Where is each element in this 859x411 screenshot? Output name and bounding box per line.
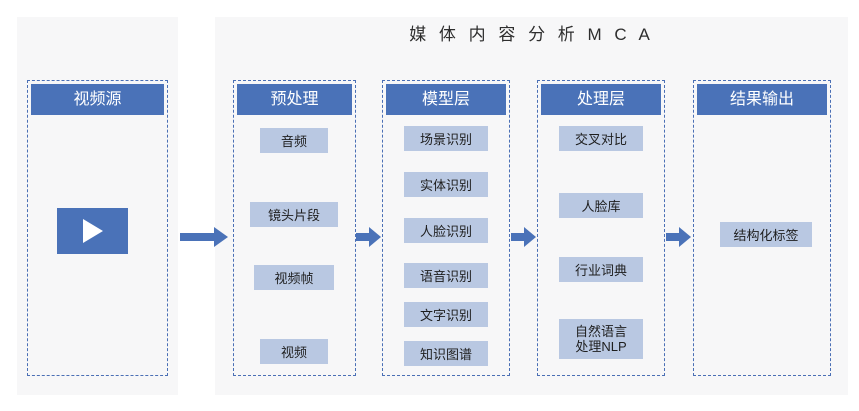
- diagram-canvas: 媒 体 内 容 分 析 M C A 视频源 预处理 音频 镜头片段 视频帧 视频…: [0, 0, 859, 411]
- play-triangle-icon: [83, 219, 103, 243]
- chip-model-scene-recognition[interactable]: 场景识别: [404, 126, 488, 151]
- column-header-model-layer: 模型层: [386, 84, 506, 115]
- chip-process-industry-dictionary[interactable]: 行业词典: [559, 257, 643, 282]
- chip-preprocess-audio[interactable]: 音频: [260, 128, 328, 153]
- chip-model-text-recognition[interactable]: 文字识别: [404, 302, 488, 327]
- column-header-process-layer: 处理层: [541, 84, 661, 115]
- column-preprocess: 预处理: [233, 80, 356, 376]
- chip-preprocess-video[interactable]: 视频: [260, 339, 328, 364]
- chip-process-face-database[interactable]: 人脸库: [559, 193, 643, 218]
- arrow-preprocess-to-model-layer: [356, 226, 382, 248]
- chip-model-face-recognition[interactable]: 人脸识别: [404, 218, 488, 243]
- chip-process-cross-comparison[interactable]: 交叉对比: [559, 126, 643, 151]
- column-header-video-source: 视频源: [31, 84, 164, 115]
- chip-process-nlp-line2: 处理NLP: [575, 339, 626, 354]
- arrow-process-layer-to-result-output: [666, 226, 692, 248]
- chip-model-entity-recognition[interactable]: 实体识别: [404, 172, 488, 197]
- column-header-preprocess: 预处理: [237, 84, 352, 115]
- arrow-video-source-to-preprocess: [180, 226, 230, 248]
- chip-preprocess-shot-segment[interactable]: 镜头片段: [250, 202, 338, 227]
- chip-result-structured-tags[interactable]: 结构化标签: [720, 222, 812, 247]
- chip-process-nlp[interactable]: 自然语言 处理NLP: [559, 319, 643, 359]
- column-header-result-output: 结果输出: [697, 84, 827, 115]
- chip-process-nlp-line1: 自然语言: [575, 324, 627, 339]
- page-title: 媒 体 内 容 分 析 M C A: [215, 20, 848, 50]
- chip-model-knowledge-graph[interactable]: 知识图谱: [404, 341, 488, 366]
- chip-preprocess-video-frame[interactable]: 视频帧: [254, 265, 334, 290]
- arrow-model-layer-to-process-layer: [511, 226, 537, 248]
- play-button-icon[interactable]: [57, 208, 128, 254]
- chip-model-speech-recognition[interactable]: 语音识别: [404, 263, 488, 288]
